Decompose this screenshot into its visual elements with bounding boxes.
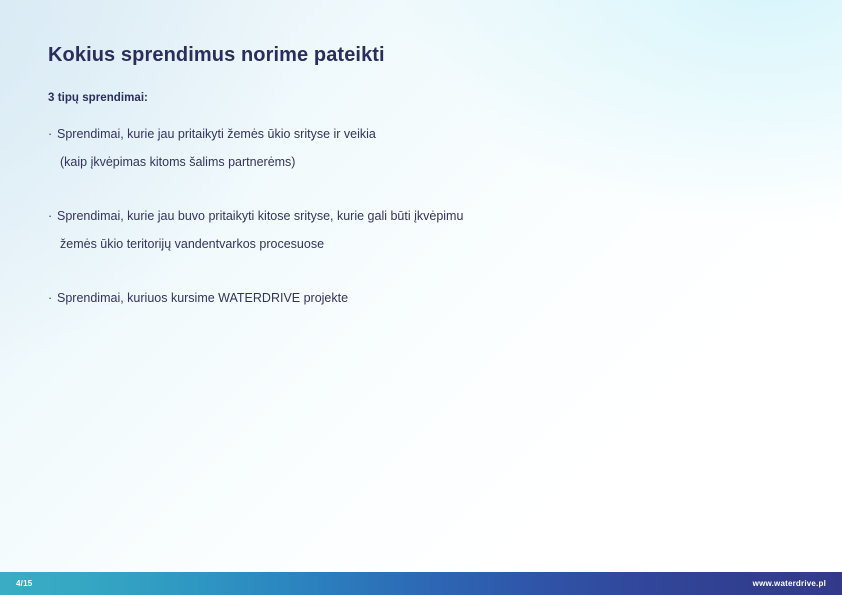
list-item: ·Sprendimai, kurie jau buvo pritaikyti k… bbox=[48, 202, 788, 230]
page-number-indicator: 4/15 bbox=[16, 580, 32, 588]
bullet-dot-icon: · bbox=[48, 120, 57, 148]
list-item-continuation: (kaip įkvėpimas kitoms šalims partnerėms… bbox=[48, 148, 788, 176]
list-item-label: Sprendimai, kuriuos kursime WATERDRIVE p… bbox=[57, 291, 348, 305]
slide-content-area: Kokius sprendimus norime pateikti 3 tipų… bbox=[0, 0, 842, 572]
page-title: Kokius sprendimus norime pateikti bbox=[48, 44, 385, 67]
slide-footer-bar: 4/15 www.waterdrive.pl bbox=[0, 572, 842, 595]
body-subheading: 3 tipų sprendimai: bbox=[48, 92, 788, 104]
list-item-label: Sprendimai, kurie jau pritaikyti žemės ū… bbox=[57, 127, 376, 141]
bullet-dot-icon: · bbox=[48, 284, 57, 312]
footer-website-url: www.waterdrive.pl bbox=[753, 580, 832, 588]
bullet-dot-icon: · bbox=[48, 202, 57, 230]
presentation-slide: Kokius sprendimus norime pateikti 3 tipų… bbox=[0, 0, 842, 595]
list-item-continuation-label: (kaip įkvėpimas kitoms šalims partnerėms… bbox=[60, 155, 295, 169]
slide-body: 3 tipų sprendimai: ·Sprendimai, kurie ja… bbox=[48, 92, 788, 312]
bullet-group: ·Sprendimai, kurie jau pritaikyti žemės … bbox=[48, 120, 788, 176]
list-item-continuation: žemės ūkio teritorijų vandentvarkos proc… bbox=[48, 230, 788, 258]
list-item-continuation-label: žemės ūkio teritorijų vandentvarkos proc… bbox=[60, 237, 324, 251]
list-item: ·Sprendimai, kuriuos kursime WATERDRIVE … bbox=[48, 284, 788, 312]
bullet-group: ·Sprendimai, kuriuos kursime WATERDRIVE … bbox=[48, 284, 788, 312]
list-item-label: Sprendimai, kurie jau buvo pritaikyti ki… bbox=[57, 209, 463, 223]
bullet-group: ·Sprendimai, kurie jau buvo pritaikyti k… bbox=[48, 202, 788, 258]
list-item: ·Sprendimai, kurie jau pritaikyti žemės … bbox=[48, 120, 788, 148]
